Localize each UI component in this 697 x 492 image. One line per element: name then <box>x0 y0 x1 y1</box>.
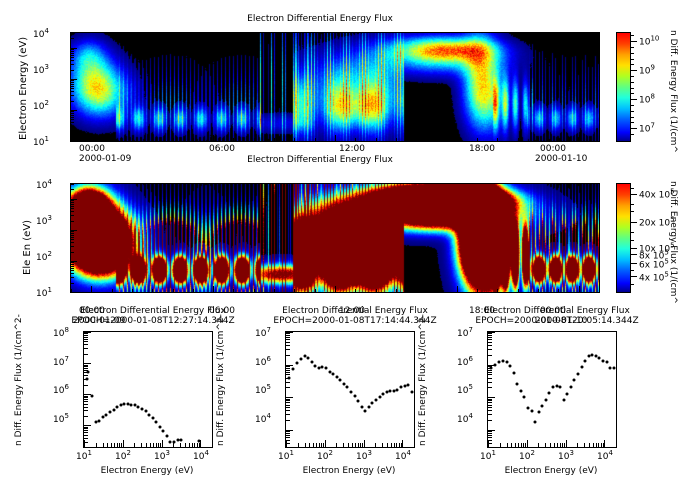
axis-tick <box>488 414 492 415</box>
axis-tick <box>173 443 174 447</box>
axis-tick <box>554 443 555 447</box>
axis-tick <box>286 397 293 398</box>
axis-tick <box>286 374 290 375</box>
data-point <box>569 386 572 389</box>
panel2-title: Electron Differential Energy Flux <box>0 155 640 165</box>
axis-tick <box>286 400 290 401</box>
axis-tick <box>348 443 349 447</box>
panel1-ytick-3: 103 <box>33 63 49 76</box>
panel1-colorbar[interactable]: 1010 109 108 107 <box>616 32 631 142</box>
panel1-xtick-1: 06:00 <box>209 144 235 154</box>
axis-tick <box>286 342 290 343</box>
data-point <box>353 394 356 397</box>
axis-tick <box>71 264 74 265</box>
axis-tick <box>112 289 113 292</box>
axis-tick <box>112 138 113 141</box>
data-point <box>165 435 168 438</box>
axis-tick <box>286 333 290 334</box>
data-point <box>382 392 385 395</box>
axis-tick <box>488 332 495 333</box>
spectrum-1-plot[interactable] <box>285 331 415 448</box>
axis-tick <box>286 405 290 406</box>
axis-tick <box>286 387 290 388</box>
axis-tick <box>71 82 74 83</box>
axis-tick <box>71 138 72 141</box>
axis-tick <box>396 138 397 141</box>
panel2-colorbar[interactable]: 40x 105 20x 105 10x 105 8x 105 6x 105 4x… <box>616 183 631 293</box>
axis-tick <box>84 407 88 408</box>
axis-tick <box>538 138 539 141</box>
data-point <box>332 373 335 376</box>
axis-tick <box>402 440 403 447</box>
data-point <box>291 367 294 370</box>
axis-tick <box>71 270 74 271</box>
axis-tick <box>286 410 290 411</box>
axis-tick <box>399 443 400 447</box>
axis-tick <box>84 335 88 336</box>
axis-tick <box>71 184 74 185</box>
data-point <box>364 410 367 413</box>
panel1-xtick-3: 18:00 <box>469 144 495 154</box>
axis-tick <box>488 333 492 334</box>
data-point <box>497 361 500 364</box>
axis-tick <box>286 399 290 400</box>
axis-tick <box>84 394 91 395</box>
axis-tick <box>488 405 492 406</box>
axis-tick <box>358 443 359 447</box>
axis-tick <box>71 235 74 236</box>
spectrum-2-plot[interactable] <box>487 331 617 448</box>
axis-tick <box>518 138 519 141</box>
data-point <box>137 405 140 408</box>
axis-tick <box>457 286 458 292</box>
spectrum-0-ytick-7: 107 <box>53 355 69 368</box>
data-point <box>295 362 298 365</box>
axis-tick <box>488 378 492 379</box>
axis-tick <box>566 440 567 447</box>
axis-tick <box>84 397 88 398</box>
axis-tick <box>84 379 88 380</box>
axis-tick <box>200 440 201 447</box>
data-point <box>158 425 161 428</box>
axis-tick <box>352 443 353 447</box>
axis-tick <box>71 266 74 267</box>
axis-tick <box>286 339 290 340</box>
axis-tick <box>84 430 88 431</box>
axis-tick <box>488 339 492 340</box>
data-point <box>112 408 115 411</box>
axis-tick <box>153 443 154 447</box>
panel1-xtick-0: 00:00 <box>79 144 105 154</box>
axis-tick <box>71 51 74 52</box>
axis-tick <box>71 273 74 274</box>
axis-tick <box>488 400 492 401</box>
axis-tick <box>233 138 234 141</box>
axis-tick <box>286 349 290 350</box>
axis-tick <box>173 289 174 292</box>
panel1-xtick-4: 00:00 <box>540 144 566 154</box>
axis-tick <box>391 443 392 447</box>
axis-tick <box>488 349 492 350</box>
axis-tick <box>488 345 492 346</box>
data-point <box>141 407 144 410</box>
axis-tick <box>180 443 181 447</box>
data-point <box>601 359 604 362</box>
axis-tick <box>233 289 234 292</box>
axis-tick <box>254 289 255 292</box>
spectrum-2-xtick-1: 101 <box>480 449 496 462</box>
axis-tick <box>364 440 365 447</box>
axis-tick <box>84 337 88 338</box>
axis-tick <box>488 368 492 369</box>
axis-tick <box>579 286 580 292</box>
axis-tick <box>192 443 193 447</box>
axis-tick <box>71 119 74 120</box>
axis-tick <box>286 378 290 379</box>
axis-tick <box>71 113 74 114</box>
axis-tick <box>376 138 377 141</box>
axis-tick <box>84 428 88 429</box>
axis-tick <box>71 200 74 201</box>
spectrum-0-xtick-3: 103 <box>154 449 170 462</box>
axis-tick <box>488 397 495 398</box>
spectrum-2-subtitle: EPOCH=2000-01-08T20:05:14.344Z <box>442 316 672 326</box>
axis-tick <box>71 242 74 243</box>
data-point <box>605 361 608 364</box>
axis-tick <box>71 231 74 232</box>
panel2-ylabel: Ele En (eV) <box>22 275 77 286</box>
spectrum-2-xtick-4: 104 <box>597 449 613 462</box>
axis-tick <box>335 135 336 141</box>
axis-tick <box>286 440 290 441</box>
axis-tick <box>315 138 316 141</box>
data-point <box>598 356 601 359</box>
panel2-colorbar-label: n Diff. Energy Flux (1/(cm^ <box>678 181 697 191</box>
axis-tick <box>71 230 77 231</box>
data-point <box>144 410 147 413</box>
axis-tick <box>457 135 458 141</box>
data-point <box>328 370 331 373</box>
axis-tick <box>150 443 151 447</box>
axis-tick <box>152 289 153 292</box>
axis-tick <box>193 138 194 141</box>
axis-tick <box>488 402 492 403</box>
panel1-ytick-4: 104 <box>33 27 49 40</box>
axis-tick <box>71 262 74 263</box>
axis-tick <box>550 443 551 447</box>
axis-tick <box>84 432 88 433</box>
spectrum-2-ytick-5: 105 <box>457 383 473 396</box>
data-point <box>307 356 310 359</box>
axis-tick <box>71 199 77 200</box>
axis-tick <box>146 443 147 447</box>
axis-tick <box>584 443 585 447</box>
axis-tick <box>286 345 290 346</box>
axis-tick <box>396 289 397 292</box>
axis-tick <box>599 138 600 141</box>
axis-tick <box>71 189 74 190</box>
axis-tick <box>84 363 91 364</box>
data-point <box>339 378 342 381</box>
data-point <box>527 406 530 409</box>
axis-tick <box>558 138 559 141</box>
data-point <box>399 385 402 388</box>
data-point <box>406 384 409 387</box>
spectrum-1-xtick-4: 104 <box>395 449 411 462</box>
axis-tick <box>71 70 74 71</box>
axis-tick <box>286 337 290 338</box>
data-point <box>385 390 388 393</box>
data-point <box>410 390 413 393</box>
axis-tick <box>286 372 290 373</box>
axis-tick <box>596 443 597 447</box>
axis-tick <box>396 443 397 447</box>
data-point <box>573 379 576 382</box>
data-point <box>555 385 558 388</box>
axis-tick <box>577 443 578 447</box>
axis-tick <box>375 443 376 447</box>
axis-tick <box>84 341 88 342</box>
axis-tick <box>376 289 377 292</box>
axis-tick <box>71 202 74 203</box>
axis-tick <box>71 53 74 54</box>
axis-tick <box>71 122 74 123</box>
axis-tick <box>84 365 88 366</box>
axis-tick <box>71 38 74 39</box>
data-point <box>544 398 547 401</box>
axis-tick <box>132 138 133 141</box>
axis-tick <box>286 443 290 444</box>
axis-tick <box>71 292 77 293</box>
data-point <box>371 402 374 405</box>
axis-tick <box>84 333 88 334</box>
axis-tick <box>71 211 74 212</box>
axis-tick <box>286 430 293 431</box>
axis-tick <box>132 289 133 292</box>
data-point <box>548 391 551 394</box>
data-point <box>516 382 519 385</box>
data-point <box>512 372 515 375</box>
axis-tick <box>589 443 590 447</box>
spectrum-0-xlabel: Electron Energy (eV) <box>83 466 211 476</box>
axis-tick <box>71 60 74 61</box>
axis-tick <box>286 402 290 403</box>
axis-tick <box>488 342 492 343</box>
axis-tick <box>416 138 417 141</box>
data-point <box>566 392 569 395</box>
spectrum-1-subtitle: EPOCH=2000-01-08T17:14:44.344Z <box>240 316 470 326</box>
data-point <box>594 354 597 357</box>
axis-tick <box>84 375 88 376</box>
data-point <box>169 440 172 443</box>
axis-tick <box>286 335 290 336</box>
axis-tick <box>497 138 498 141</box>
axis-tick <box>156 443 157 447</box>
data-point <box>299 357 302 360</box>
axis-tick <box>71 126 74 127</box>
axis-tick <box>71 208 74 209</box>
data-point <box>389 389 392 392</box>
data-point <box>378 396 381 399</box>
data-point <box>562 398 565 401</box>
axis-tick <box>355 443 356 447</box>
axis-tick <box>274 138 275 141</box>
data-point <box>501 359 504 362</box>
spectrum-0-subtitle: EPOCH=2000-01-08T12:27:14.344Z <box>38 316 268 326</box>
spectrum-2-xtick-3: 103 <box>558 449 574 462</box>
axis-tick <box>488 387 492 388</box>
axis-tick <box>194 443 195 447</box>
axis-tick <box>71 252 74 253</box>
data-point <box>396 388 399 391</box>
axis-tick <box>84 438 88 439</box>
data-point <box>325 366 328 369</box>
axis-tick <box>286 433 290 434</box>
axis-tick <box>91 135 92 141</box>
axis-tick <box>71 49 74 50</box>
axis-tick <box>84 425 91 426</box>
data-point <box>310 361 313 364</box>
axis-tick <box>84 427 88 428</box>
axis-tick <box>71 221 74 222</box>
data-point <box>98 419 101 422</box>
axis-tick <box>488 420 492 421</box>
axis-tick <box>84 348 88 349</box>
axis-tick <box>294 289 295 292</box>
panel2-spectrogram[interactable] <box>70 183 600 293</box>
axis-tick <box>84 339 88 340</box>
axis-tick <box>71 206 74 207</box>
axis-tick <box>394 443 395 447</box>
axis-tick <box>71 55 74 56</box>
panel1-xtick-2: 12:00 <box>339 144 365 154</box>
axis-tick <box>158 443 159 447</box>
axis-tick <box>488 435 492 436</box>
spectrum-1-ytick-4: 104 <box>255 412 271 425</box>
axis-tick <box>579 135 580 141</box>
axis-tick <box>294 138 295 141</box>
axis-tick <box>488 430 495 431</box>
data-point <box>126 403 129 406</box>
axis-tick <box>616 443 617 447</box>
axis-tick <box>599 289 600 292</box>
axis-tick <box>84 401 88 402</box>
axis-tick <box>497 289 498 292</box>
axis-tick <box>286 368 290 369</box>
data-point <box>552 386 555 389</box>
axis-tick <box>437 289 438 292</box>
axis-tick <box>189 443 190 447</box>
axis-tick <box>84 332 91 333</box>
spectrum-2-title: Electron Differential Energy Flux <box>442 306 672 316</box>
data-point <box>541 404 544 407</box>
data-point <box>360 406 363 409</box>
data-point <box>392 389 395 392</box>
data-point <box>576 373 579 376</box>
axis-tick <box>416 289 417 292</box>
axis-tick <box>71 277 74 278</box>
axis-tick <box>71 101 74 102</box>
axis-tick <box>488 440 492 441</box>
data-point <box>608 366 611 369</box>
axis-tick <box>213 286 214 292</box>
data-point <box>523 396 526 399</box>
data-point <box>94 420 97 423</box>
panel1-spectrogram[interactable] <box>70 32 600 142</box>
panel1-ytick-2: 102 <box>33 99 49 112</box>
axis-tick <box>382 443 383 447</box>
data-point <box>530 410 533 413</box>
axis-tick <box>315 289 316 292</box>
axis-tick <box>84 416 88 417</box>
axis-tick <box>286 382 290 383</box>
data-point <box>346 386 349 389</box>
panel1-colorbar-label: n Diff. Energy Flux (1/(cm^ <box>678 30 697 40</box>
data-point <box>176 439 179 442</box>
axis-tick <box>197 443 198 447</box>
axis-tick <box>488 433 492 434</box>
axis-tick <box>84 372 88 373</box>
axis-tick <box>84 370 88 371</box>
spectrum-1-xtick-1: 101 <box>278 449 294 462</box>
axis-tick <box>71 91 74 92</box>
axis-tick <box>488 355 492 356</box>
axis-tick <box>71 261 77 262</box>
spectrum-1-xtick-2: 102 <box>317 449 333 462</box>
axis-tick <box>173 138 174 141</box>
axis-tick <box>71 84 74 85</box>
data-point <box>584 359 587 362</box>
axis-tick <box>71 237 74 238</box>
axis-tick <box>488 410 492 411</box>
axis-tick <box>254 138 255 141</box>
axis-tick <box>560 443 561 447</box>
axis-tick <box>355 289 356 292</box>
axis-tick <box>557 443 558 447</box>
axis-tick <box>477 289 478 292</box>
axis-tick <box>488 366 492 367</box>
panel1-title: Electron Differential Energy Flux <box>0 14 640 24</box>
axis-tick <box>488 365 495 366</box>
axis-tick <box>286 414 290 415</box>
axis-tick <box>286 431 290 432</box>
axis-tick <box>71 215 74 216</box>
axis-tick <box>598 443 599 447</box>
axis-tick <box>71 283 74 284</box>
data-point <box>591 353 594 356</box>
data-point <box>102 416 105 419</box>
axis-tick <box>71 268 74 269</box>
data-point <box>580 365 583 368</box>
axis-tick <box>84 396 88 397</box>
axis-tick <box>562 443 563 447</box>
panel2-ytick-2: 102 <box>36 250 52 263</box>
axis-tick <box>71 95 74 96</box>
spectrum-1-ytick-7: 107 <box>255 326 271 339</box>
data-point <box>350 390 353 393</box>
axis-tick <box>593 443 594 447</box>
axis-tick <box>71 204 74 205</box>
spectrum-1-ytick-6: 106 <box>255 355 271 368</box>
axis-tick <box>488 335 492 336</box>
axis-tick <box>414 443 415 447</box>
spectrum-0-xtick-1: 101 <box>76 449 92 462</box>
axis-tick <box>162 440 163 447</box>
spectrum-0-plot[interactable] <box>83 331 213 448</box>
axis-tick <box>71 33 74 34</box>
axis-tick <box>488 431 492 432</box>
axis-tick <box>286 370 290 371</box>
